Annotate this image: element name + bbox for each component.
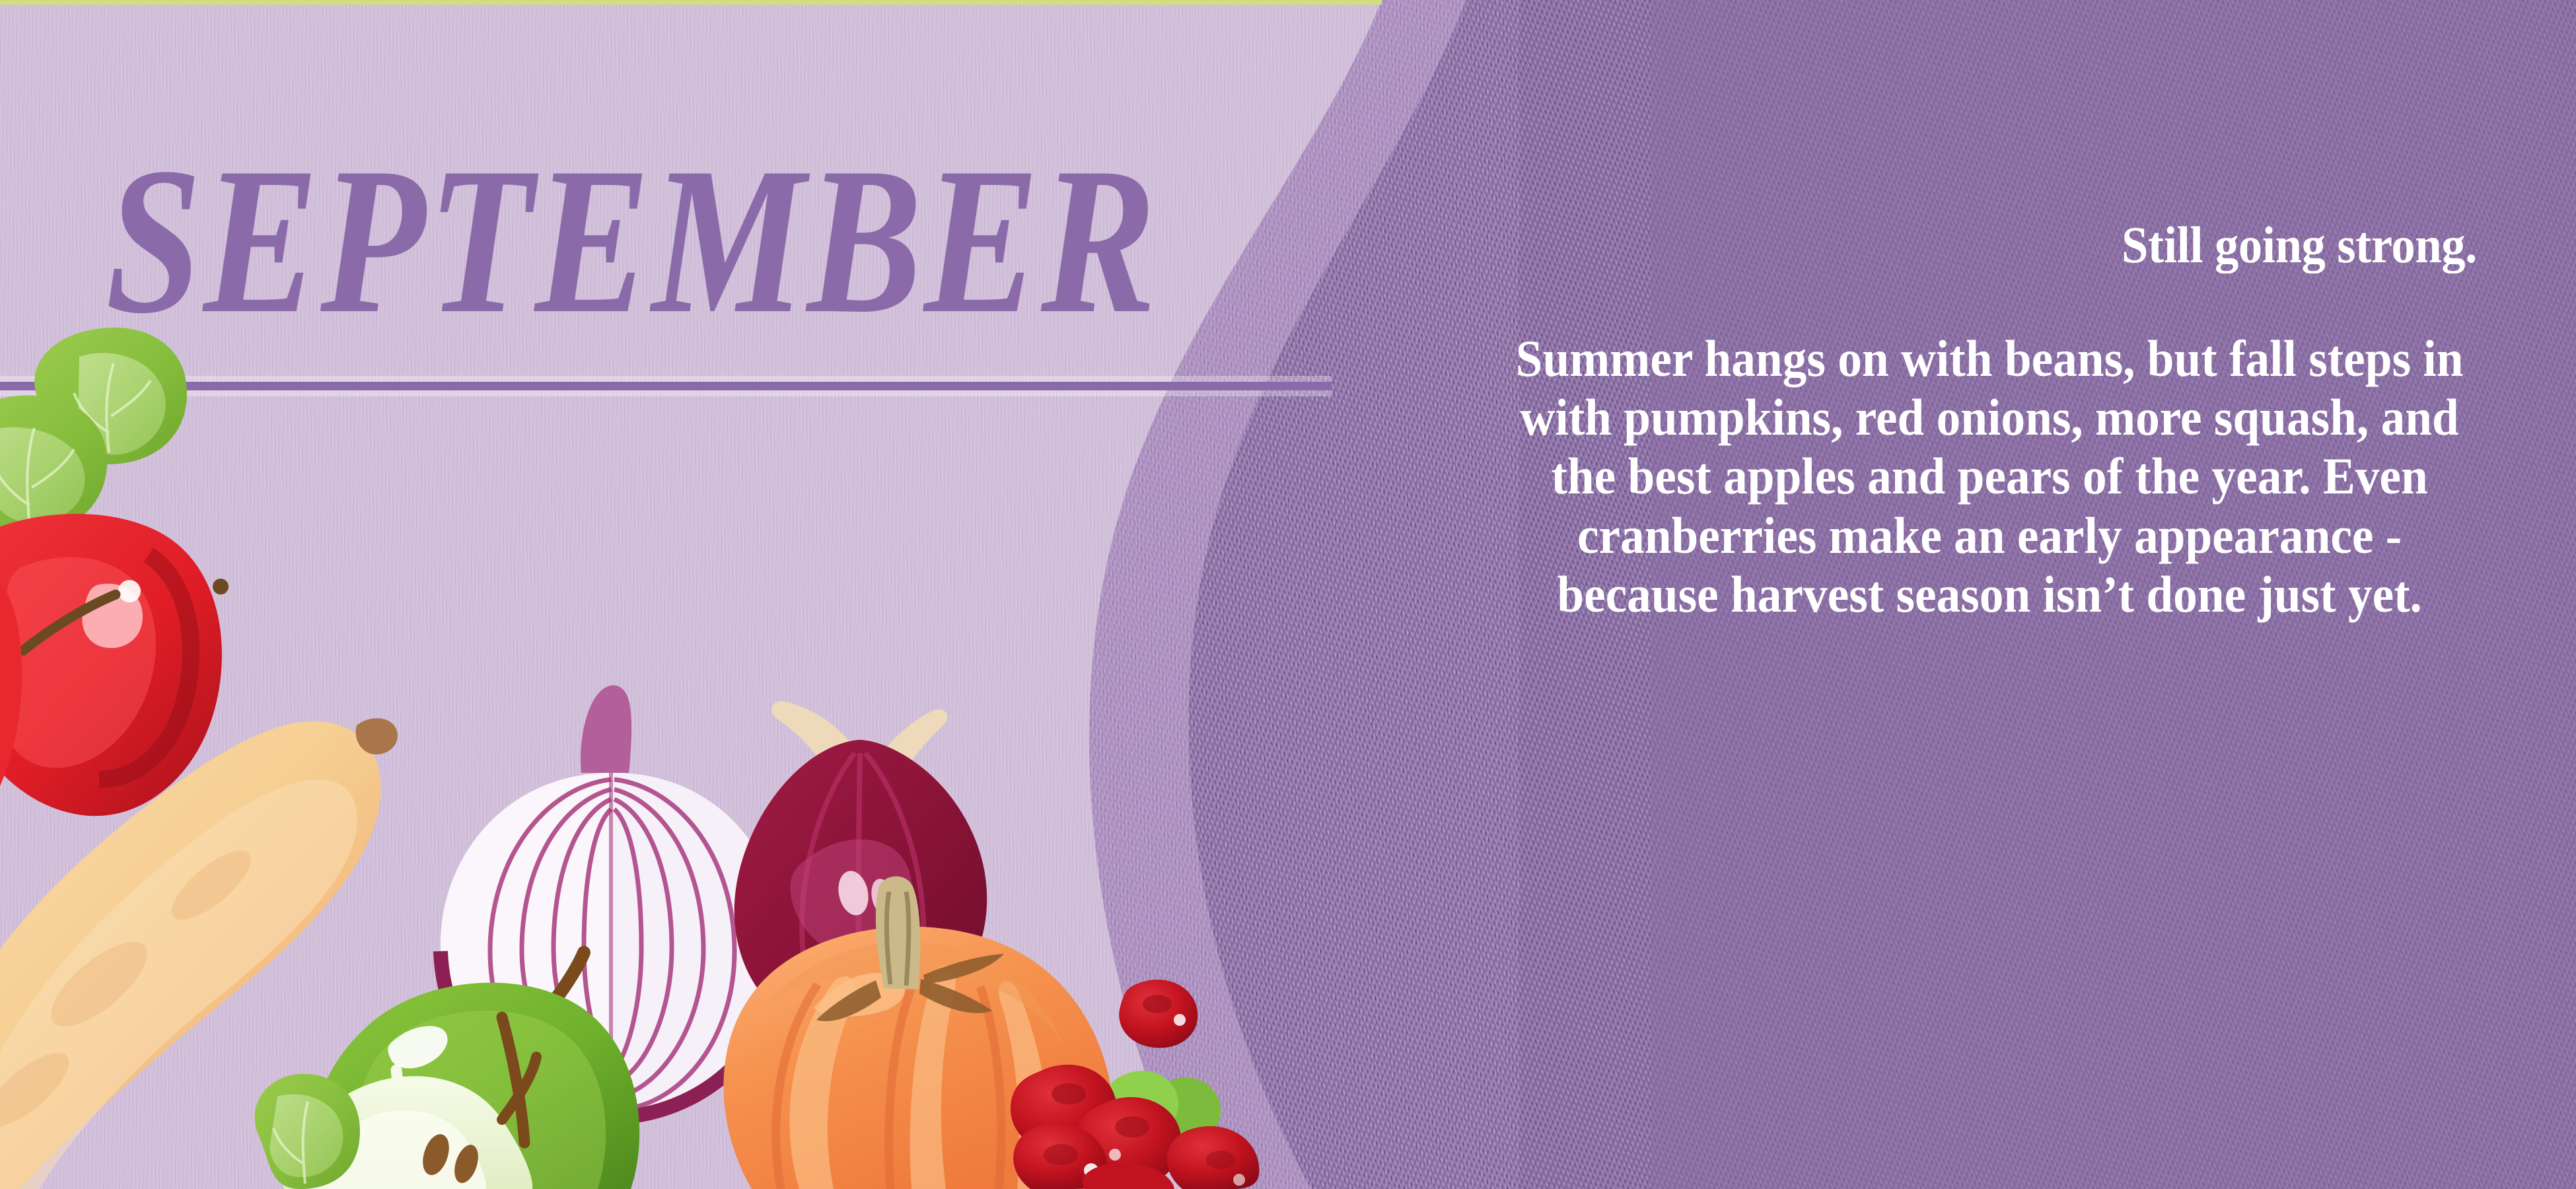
red-apple-whole-icon (0, 514, 229, 816)
body-paragraph: Summer hangs on with beans, but fall ste… (1502, 329, 2477, 624)
top-accent-line (0, 0, 1382, 5)
produce-illustration (0, 317, 1321, 1189)
september-seasonal-poster: SEPTEMBER (0, 0, 2576, 1189)
brussels-sprout-icon (255, 1074, 360, 1189)
right-copy-block: Still going strong. Summer hangs on with… (1440, 218, 2477, 624)
page-title: SEPTEMBER (106, 135, 1026, 345)
headline: Still going strong. (1513, 218, 2477, 272)
